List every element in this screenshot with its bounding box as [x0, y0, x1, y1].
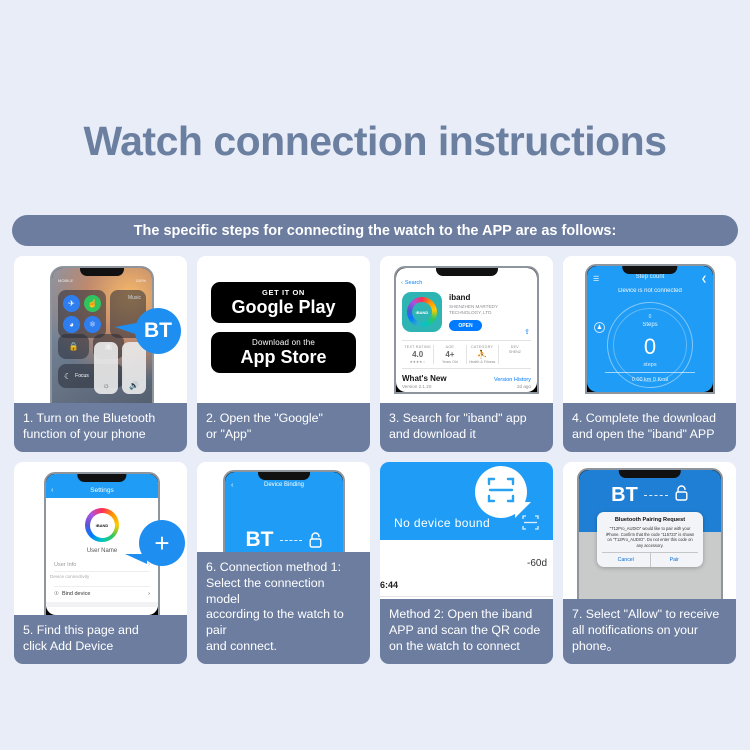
- dashed-link: [644, 495, 668, 496]
- lock-icon: [308, 531, 323, 549]
- steps-grid: MOBILE 100% ✈ ☝ ◕ ⚛ Music: [14, 256, 736, 662]
- app-header: iBAND iband SHENZHEN MARTEDY TECHNOLOGY,…: [402, 292, 531, 332]
- app-store-badge-small: Download on the: [215, 338, 352, 347]
- google-play-badge-small: GET IT ON: [215, 288, 352, 297]
- pairing-screen: BT Bluetooth Pairing Request: [579, 470, 721, 616]
- phone-frame-pairing: BT Bluetooth Pairing Request: [577, 468, 723, 618]
- goal-value: 0: [587, 314, 713, 320]
- settings-navbar: ‹ Settings: [46, 474, 158, 498]
- step-4-caption: 4. Complete the download and open the "i…: [563, 403, 736, 452]
- dashed-link: [280, 540, 302, 541]
- bind-device-icon: ☉: [54, 591, 59, 597]
- step-8-caption: 7. Select "Allow" to receive all notific…: [563, 599, 736, 664]
- app-meta: iband SHENZHEN MARTEDY TECHNOLOGY, LTD O…: [449, 292, 531, 332]
- app-stat-value: 4.0: [402, 350, 433, 359]
- divider: [605, 372, 695, 373]
- divider: [46, 602, 158, 607]
- cellular-data-icon[interactable]: ☝: [84, 295, 101, 312]
- phone-frame-app-store: ‹ Search iBAND iband SHENZHEN M: [394, 266, 539, 394]
- pairing-dialog: Bluetooth Pairing Request "T12Pro_AUDIO"…: [597, 512, 703, 567]
- rssi-value: -60d: [527, 558, 547, 569]
- moon-icon: ☾: [64, 372, 71, 381]
- add-device-callout-bubble: +: [139, 520, 185, 566]
- bt-lock-illustration: BT: [579, 484, 721, 507]
- app-stats-row: TEXT RATING 4.0 ★★★★☆ AGE 4+ Years Old C…: [402, 340, 531, 364]
- pairing-dialog-title: Bluetooth Pairing Request: [602, 517, 698, 523]
- step-7-caption: Method 2: Open the iband APP and scan th…: [380, 599, 553, 664]
- version-number: Version 2.1.20: [402, 384, 431, 389]
- volume-icon: 🔊: [129, 381, 139, 390]
- orientation-lock-icon[interactable]: 🔒: [58, 334, 89, 359]
- app-stat-sub: Health & Fitness: [467, 360, 498, 364]
- phone-frame-iband-home: ☰ ❮ Step count Device is not connected ♟…: [585, 264, 715, 394]
- google-play-badge-big: Google Play: [215, 298, 352, 317]
- cancel-button[interactable]: Cancel: [602, 553, 651, 567]
- music-label: Music: [128, 295, 141, 301]
- bt-lock-illustration: BT: [225, 528, 343, 552]
- connection-status: Device is not connected: [587, 288, 713, 294]
- step-5-caption: 5. Find this page and click Add Device: [14, 615, 187, 664]
- bt-callout-label: BT: [144, 319, 172, 343]
- step-6-caption: 6. Connection method 1: Select the conne…: [197, 552, 370, 664]
- lock-icon: [674, 484, 689, 507]
- bottom-stats: 0.00 km 0 Kcal: [587, 377, 713, 383]
- subtitle-banner: The specific steps for connecting the wa…: [12, 215, 738, 246]
- app-stat-label: TEXT RATING: [402, 345, 433, 349]
- connectivity-panel[interactable]: ✈ ☝ ◕ ⚛: [58, 290, 106, 338]
- avatar[interactable]: iBAND: [85, 508, 119, 542]
- app-stat-value: ⛹: [467, 350, 498, 359]
- step-card-5: ‹ Settings iBAND User Name User Info › D…: [14, 462, 187, 662]
- step-card-2: GET IT ON Google Play Download on the Ap…: [197, 256, 370, 452]
- share-icon[interactable]: ⇪: [524, 328, 530, 336]
- version-history-link[interactable]: Version History: [494, 377, 531, 383]
- no-device-label: No device bound: [394, 516, 490, 530]
- version-row: Version 2.1.20 2d ago: [402, 384, 531, 389]
- app-open-button[interactable]: OPEN: [449, 320, 482, 331]
- avatar-label: iBAND: [90, 513, 115, 538]
- app-stat-sub: SHENZ: [499, 350, 531, 354]
- app-store-back[interactable]: ‹ Search: [396, 278, 537, 288]
- app-icon-ring: iBAND: [407, 297, 437, 327]
- settings-nav-title: Settings: [90, 487, 114, 494]
- bt-callout-bubble: BT: [135, 308, 181, 354]
- iband-home-screen: ☰ ❮ Step count Device is not connected ♟…: [587, 266, 713, 392]
- chevron-left-icon: ‹: [401, 280, 403, 286]
- step-count-value: 0: [587, 334, 713, 360]
- google-play-badge[interactable]: GET IT ON Google Play: [211, 282, 356, 323]
- bluetooth-icon[interactable]: ⚛: [84, 316, 101, 333]
- airplane-mode-icon[interactable]: ✈: [63, 295, 80, 312]
- step-3-caption: 3. Search for "iband" app and download i…: [380, 403, 553, 452]
- page-title: Watch connection instructions: [0, 118, 750, 165]
- instruction-poster: Watch connection instructions The specif…: [0, 0, 750, 750]
- slider-group: ☼ 🔊: [94, 342, 146, 394]
- subtitle-text: The specific steps for connecting the wa…: [134, 223, 617, 239]
- step-count-unit: steps: [587, 362, 713, 368]
- bind-device-label: Bind device: [62, 591, 90, 597]
- bt-label: BT: [611, 484, 638, 507]
- qr-scan-icon: [486, 475, 516, 510]
- add-device-callout-label: +: [154, 528, 169, 559]
- chevron-right-icon: ›: [148, 591, 150, 597]
- app-store-badge-big: App Store: [215, 348, 352, 367]
- app-store-badge[interactable]: Download on the App Store: [211, 332, 356, 373]
- app-store-back-label: Search: [405, 280, 422, 286]
- carrier-label: MOBILE: [58, 278, 73, 283]
- step-2-caption: 2. Open the "Google" or "App": [197, 403, 370, 452]
- pairing-dialog-body: "T12Pro_AUDIO" would like to pair with y…: [602, 526, 698, 552]
- app-stat: CATEGORY ⛹ Health & Fitness: [467, 345, 499, 364]
- app-stat-sub: ★★★★☆: [402, 360, 433, 364]
- step-1-caption: 1. Turn on the Bluetooth function of you…: [14, 403, 187, 452]
- chevron-left-icon[interactable]: ‹: [51, 487, 53, 494]
- app-stat: DEV SHENZ: [499, 345, 531, 364]
- battery-label: 100%: [136, 278, 146, 283]
- version-date: 2d ago: [517, 384, 531, 389]
- step-card-6: ‹ Device Binding BT: [197, 462, 370, 662]
- binding-nav-title: Device Binding: [225, 482, 343, 488]
- pairing-dialog-buttons: Cancel Pair: [602, 552, 698, 567]
- step-card-3: ‹ Search iBAND iband SHENZHEN M: [380, 256, 553, 452]
- app-stat-label: CATEGORY: [467, 345, 498, 349]
- app-icon-label: iBAND: [412, 302, 432, 322]
- bt-label: BT: [246, 528, 274, 552]
- app-developer: SHENZHEN MARTEDY TECHNOLOGY, LTD: [449, 304, 531, 316]
- app-stat-value: 4+: [434, 350, 465, 359]
- whats-new-title: What's New: [402, 374, 447, 383]
- app-stat: TEXT RATING 4.0 ★★★★☆: [402, 345, 434, 364]
- step-card-7: No device bound: [380, 462, 553, 662]
- wifi-icon[interactable]: ◕: [63, 316, 80, 333]
- step-card-1: MOBILE 100% ✈ ☝ ◕ ⚛ Music: [14, 256, 187, 452]
- goal-label: Steps: [587, 322, 713, 328]
- whats-new-section: What's New Version History: [402, 368, 531, 383]
- app-store-screen: ‹ Search iBAND iband SHENZHEN M: [396, 268, 537, 392]
- pair-button[interactable]: Pair: [651, 553, 699, 567]
- app-stat-label: AGE: [434, 345, 465, 349]
- section-label: Device connectivity: [50, 574, 89, 579]
- divider: [380, 596, 553, 597]
- status-bar: MOBILE 100%: [58, 277, 146, 284]
- brightness-icon: ☼: [102, 381, 109, 390]
- app-stat-label: DEV: [499, 345, 531, 349]
- step-card-4: ☰ ❮ Step count Device is not connected ♟…: [563, 256, 736, 452]
- app-icon: iBAND: [402, 292, 442, 332]
- time-value: 6:44: [380, 580, 398, 590]
- user-info-label: User Info: [54, 562, 76, 568]
- iband-screen-title: Step count: [587, 274, 713, 280]
- app-name: iband: [449, 293, 531, 302]
- brightness-slider[interactable]: ☼: [94, 342, 118, 394]
- scan-callout-bubble: [475, 466, 527, 518]
- step-card-8: BT Bluetooth Pairing Request: [563, 462, 736, 662]
- app-stat: AGE 4+ Years Old: [434, 345, 466, 364]
- bind-device-row[interactable]: ☉ Bind device ›: [54, 586, 150, 597]
- app-stat-sub: Years Old: [434, 360, 465, 364]
- focus-label: Focus: [75, 373, 89, 379]
- volume-slider[interactable]: 🔊: [122, 342, 146, 394]
